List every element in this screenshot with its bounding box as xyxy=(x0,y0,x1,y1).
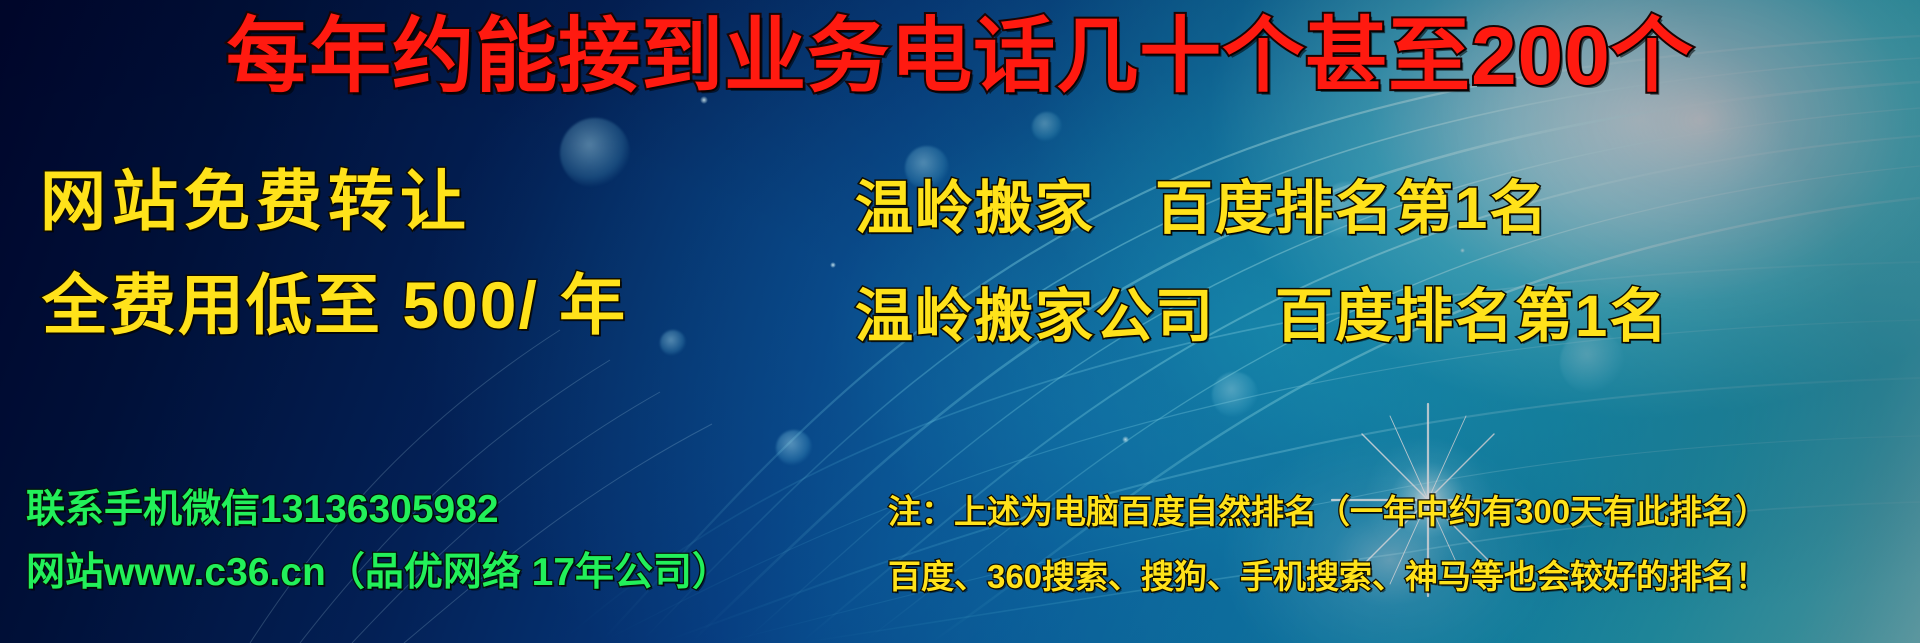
offer-line-1: 网站免费转让 xyxy=(40,168,472,234)
contact-phone-wechat: 联系手机微信13136305982 xyxy=(26,490,499,529)
ranking-line-2: 温岭搬家公司 百度排名第1名 xyxy=(855,288,1669,346)
ranking-line-1: 温岭搬家 百度排名第1名 xyxy=(855,180,1549,238)
bokeh-circle xyxy=(560,118,630,188)
note-line-1: 注：上述为电脑百度自然排名（一年中约有300天有此排名） xyxy=(888,495,1768,528)
bokeh-circle xyxy=(776,430,812,466)
bokeh-circle xyxy=(660,330,686,356)
promo-banner: 每年约能接到业务电话几十个甚至200个 网站免费转让 全费用低至 500/ 年 … xyxy=(0,0,1920,643)
bokeh-circle xyxy=(1212,372,1258,418)
dust-speck xyxy=(1122,436,1129,443)
dust-speck xyxy=(830,262,836,268)
dust-speck xyxy=(1460,248,1465,253)
bokeh-circle xyxy=(1032,112,1062,142)
offer-line-2: 全费用低至 500/ 年 xyxy=(42,272,627,338)
contact-website: 网站www.c36.cn（品优网络 17年公司） xyxy=(26,553,731,592)
headline-text: 每年约能接到业务电话几十个甚至200个 xyxy=(0,16,1920,98)
note-line-2: 百度、360搜索、搜狗、手机搜索、神马等也会较好的排名！ xyxy=(888,560,1768,593)
